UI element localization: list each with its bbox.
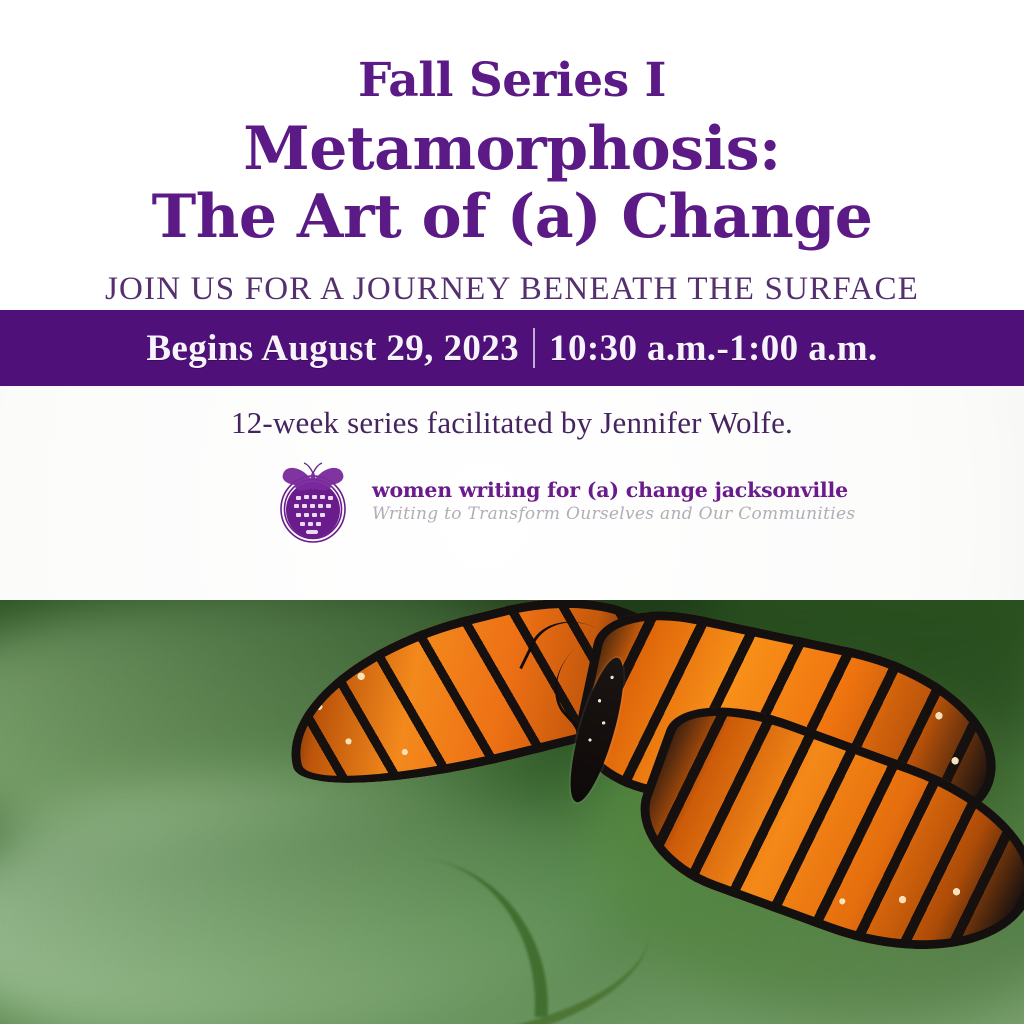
series-label: Fall Series I	[0, 0, 1024, 105]
banner-separator-icon	[533, 328, 535, 368]
event-date: Begins August 29, 2023	[146, 327, 519, 370]
event-flyer: Fall Series I Metamorphosis: The Art of …	[0, 0, 1024, 1024]
title-line-1: Metamorphosis:	[0, 105, 1024, 181]
butterfly-typewriter-logo-icon	[270, 452, 356, 544]
title-line-2: The Art of (a) Change	[0, 181, 1024, 249]
headline-subtitle: JOIN US FOR A JOURNEY BENEATH THE SURFAC…	[0, 249, 1024, 308]
headline-group: Fall Series I Metamorphosis: The Art of …	[0, 0, 1024, 308]
organization-name: women writing for (a) change jacksonvill…	[372, 478, 855, 502]
facilitator-line: 12-week series facilitated by Jennifer W…	[0, 405, 1024, 441]
logo-text-group: women writing for (a) change jacksonvill…	[372, 472, 855, 524]
organization-tagline: Writing to Transform Ourselves and Our C…	[372, 504, 855, 524]
organization-logo-block: women writing for (a) change jacksonvill…	[270, 450, 790, 545]
date-time-banner: Begins August 29, 2023 10:30 a.m.-1:00 a…	[0, 310, 1024, 386]
orange-flower	[300, 1000, 720, 1024]
monarch-butterfly	[280, 615, 970, 945]
date-time-text: Begins August 29, 2023 10:30 a.m.-1:00 a…	[146, 327, 877, 370]
event-time: 10:30 a.m.-1:00 a.m.	[549, 327, 878, 370]
